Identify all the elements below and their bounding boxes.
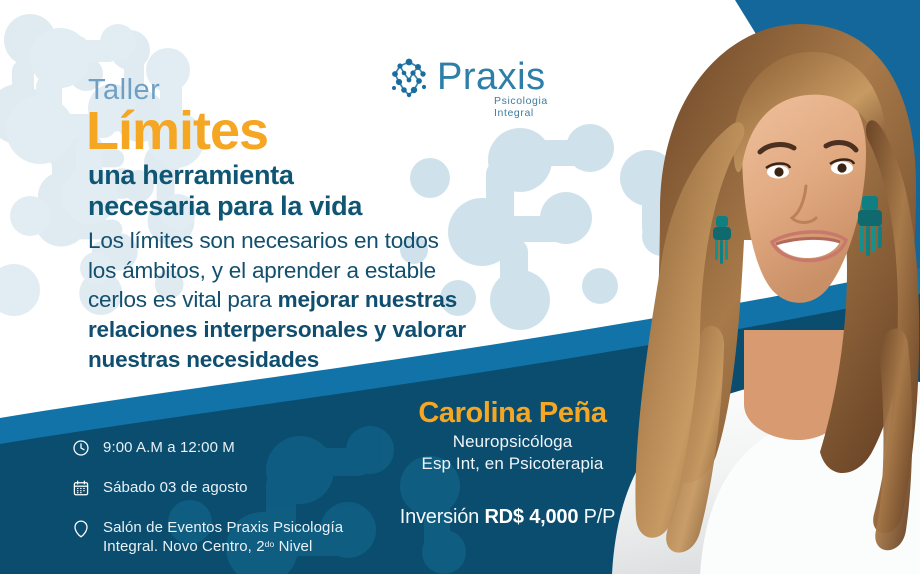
clock-icon <box>72 439 90 462</box>
detail-date: Sábado 03 de agosto <box>72 478 343 502</box>
price-unit: P/P <box>584 506 616 528</box>
event-details: 9:00 A.M a 12:00 M Sábado 0 <box>72 438 343 572</box>
calendar-icon <box>72 479 90 502</box>
location-line-2-pre: Integral. Novo Centro, 2 <box>103 538 265 555</box>
molecule-cluster-icon <box>388 56 430 98</box>
speaker-name: Carolina Peña <box>405 398 620 428</box>
speaker-role-line-1: Neuropsicóloga <box>405 431 620 452</box>
logo-tagline: Psicologia Integral <box>494 95 548 119</box>
speaker-role: Neuropsicóloga Esp Int, en Psicoterapia <box>405 431 620 474</box>
detail-time-label: 9:00 A.M a 12:00 M <box>103 438 235 457</box>
detail-location: Salón de Eventos Praxis Psicología Integ… <box>72 518 343 556</box>
detail-time: 9:00 A.M a 12:00 M <box>72 438 343 462</box>
page-title: Límites <box>86 104 268 158</box>
subtitle-line-1: una herramienta <box>88 160 362 191</box>
location-line-1: Salón de Eventos Praxis Psicología <box>103 519 343 536</box>
subtitle: una herramienta necesaria para la vida <box>88 160 362 222</box>
pricing-line: Inversión RD$ 4,000 P/P <box>390 506 625 529</box>
event-flyer: Praxis Psicologia Integral Taller Límite… <box>0 0 920 574</box>
speaker-credit: Carolina Peña Neuropsicóloga Esp Int, en… <box>405 398 620 474</box>
price-label: Inversión <box>400 506 479 528</box>
brand-logo: Praxis Psicologia Integral <box>388 56 546 98</box>
subtitle-line-2: necesaria para la vida <box>88 191 362 222</box>
logo-wordmark: Praxis <box>437 58 546 96</box>
detail-date-label: Sábado 03 de agosto <box>103 478 248 497</box>
speaker-role-line-2: Esp Int, en Psicoterapia <box>405 453 620 474</box>
price-amount: RD$ 4,000 <box>484 506 578 528</box>
description-paragraph: Los límites son necesarios en todos los … <box>88 226 468 374</box>
detail-location-label: Salón de Eventos Praxis Psicología Integ… <box>103 518 343 556</box>
location-line-2-post: Nivel <box>274 538 312 555</box>
location-pin-icon <box>72 519 90 544</box>
location-ordinal-suffix: do <box>265 539 275 549</box>
